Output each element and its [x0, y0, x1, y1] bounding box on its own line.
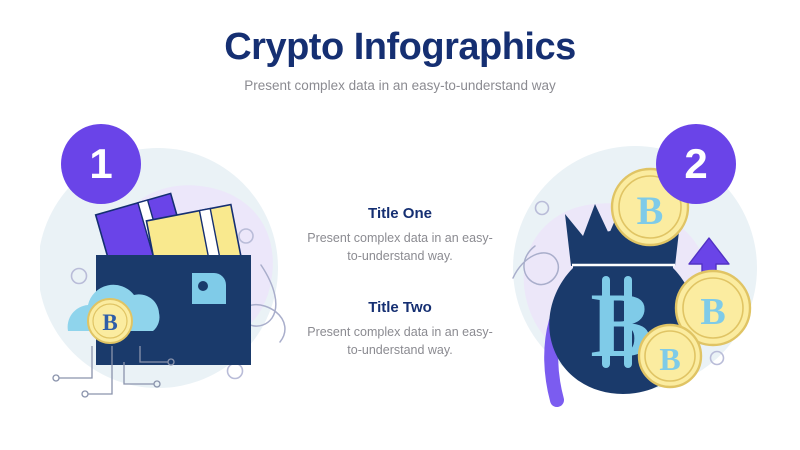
svg-text:B: B: [700, 291, 725, 333]
item-title: Title Two: [300, 299, 500, 316]
page-subtitle: Present complex data in an easy-to-under…: [0, 78, 800, 93]
slide-header: Crypto Infographics Present complex data…: [0, 28, 800, 93]
list-item: Title One Present complex data in an eas…: [300, 205, 500, 265]
slide-root: Crypto Infographics Present complex data…: [0, 0, 800, 450]
svg-text:B: B: [637, 188, 664, 233]
item-title: Title One: [300, 205, 500, 222]
item-description: Present complex data in an easy-to-under…: [300, 323, 500, 359]
step-number-badge-2: 2: [656, 124, 736, 204]
item-description: Present complex data in an easy-to-under…: [300, 229, 500, 265]
svg-text:B: B: [659, 341, 680, 377]
list-item: Title Two Present complex data in an eas…: [300, 299, 500, 359]
svg-text:B: B: [102, 310, 117, 335]
page-title: Crypto Infographics: [0, 28, 800, 68]
content-list: Title One Present complex data in an eas…: [300, 205, 500, 360]
step-number-badge-1: 1: [61, 124, 141, 204]
